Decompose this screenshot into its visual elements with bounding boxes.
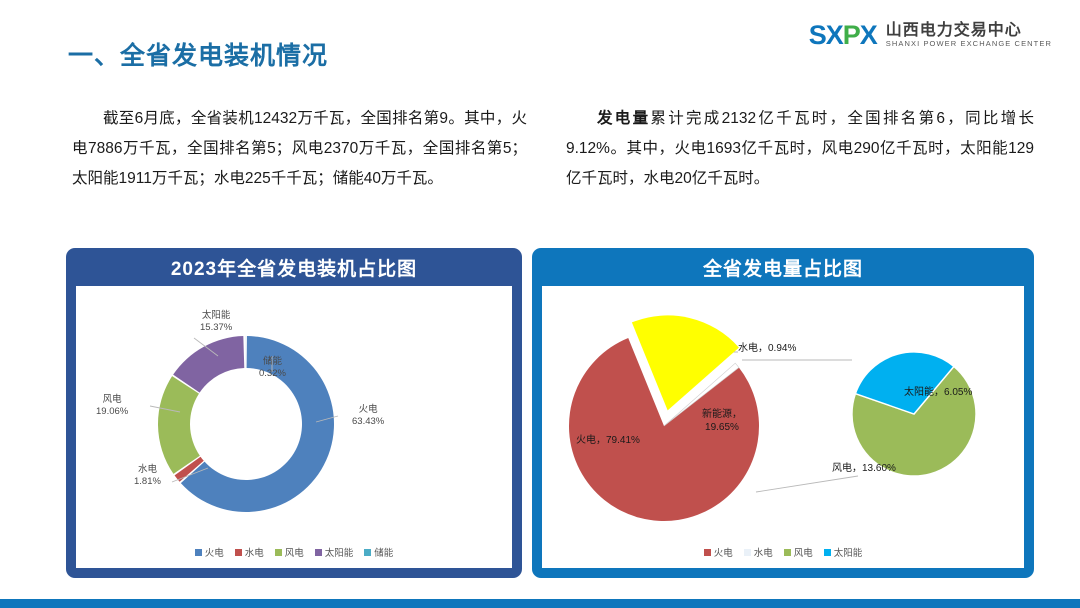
pie-label-hydro: 水电，0.94% bbox=[738, 342, 796, 355]
chart-label-thermal-name: 火电 bbox=[359, 404, 378, 415]
legend-item-火电[interactable]: 火电 bbox=[195, 545, 224, 559]
pie-label-solar: 太阳能，6.05% bbox=[904, 386, 972, 399]
panel-generation-body: 火电，79.41% 新能源， 19.65% 水电，0.94% 风电，13.60%… bbox=[542, 286, 1024, 568]
legend-swatch-icon bbox=[315, 549, 322, 556]
legend-swatch-icon bbox=[195, 549, 202, 556]
legend-label: 水电 bbox=[245, 545, 264, 559]
legend-item-太阳能[interactable]: 太阳能 bbox=[824, 545, 863, 559]
page-title: 一、全省发电装机情况 bbox=[68, 36, 328, 72]
chart-label-wind-name: 风电 bbox=[103, 394, 122, 405]
logo-mark: SXPX bbox=[809, 22, 877, 49]
logo-english-name: SHANXI POWER EXCHANGE CENTER bbox=[886, 40, 1052, 48]
legend-swatch-icon bbox=[824, 549, 831, 556]
panel-capacity-body: 太阳能 15.37% 储能 0.32% 风电 19.06% 水电 1.81% 火… bbox=[76, 286, 512, 568]
pie-chart-generation bbox=[542, 286, 1024, 568]
chart-label-storage-name: 储能 bbox=[263, 356, 282, 367]
legend-label: 火电 bbox=[714, 545, 733, 559]
paragraph-generation: 发电量累计完成2132亿千瓦时，全国排名第6，同比增长9.12%。其中，火电16… bbox=[566, 104, 1034, 195]
legend-label: 储能 bbox=[374, 545, 393, 559]
panel-capacity-title: 2023年全省发电装机占比图 bbox=[66, 248, 522, 286]
panel-capacity-chart: 2023年全省发电装机占比图 太阳能 15.37% 储能 0.32% 风电 19… bbox=[66, 248, 522, 578]
legend-item-水电[interactable]: 水电 bbox=[744, 545, 773, 559]
chart-label-hydro-name: 水电 bbox=[138, 464, 157, 475]
connector-line bbox=[756, 476, 858, 492]
logo-chinese-name: 山西电力交易中心 bbox=[886, 23, 1052, 40]
donut-chart-capacity bbox=[76, 286, 512, 568]
legend-label: 火电 bbox=[205, 545, 224, 559]
bottom-accent-bar bbox=[0, 599, 1080, 608]
chart-label-thermal: 火电 63.43% bbox=[352, 404, 384, 428]
logo-mark-left: SX bbox=[809, 20, 843, 50]
legend-item-风电[interactable]: 风电 bbox=[275, 545, 304, 559]
legend-label: 太阳能 bbox=[834, 545, 863, 559]
legend-swatch-icon bbox=[784, 549, 791, 556]
logo: SXPX 山西电力交易中心 SHANXI POWER EXCHANGE CENT… bbox=[809, 22, 1052, 49]
panel-generation-chart: 全省发电量占比图 火电，79.41% 新能源， 19.65% 水电，0.94% … bbox=[532, 248, 1034, 578]
legend-generation: 火电水电风电太阳能 bbox=[542, 545, 1024, 559]
legend-label: 水电 bbox=[754, 545, 773, 559]
panel-generation-title: 全省发电量占比图 bbox=[532, 248, 1034, 286]
legend-label: 风电 bbox=[285, 545, 304, 559]
legend-item-太阳能[interactable]: 太阳能 bbox=[315, 545, 354, 559]
chart-label-storage-value: 0.32% bbox=[259, 368, 286, 380]
pie-chart-svg bbox=[542, 286, 1024, 568]
paragraph-generation-keyword: 发电量 bbox=[597, 110, 650, 127]
legend-item-储能[interactable]: 储能 bbox=[364, 545, 393, 559]
legend-label: 太阳能 bbox=[325, 545, 354, 559]
pie-label-wind: 风电，13.60% bbox=[832, 462, 896, 475]
legend-item-水电[interactable]: 水电 bbox=[235, 545, 264, 559]
pie-label-newenergy-name: 新能源， bbox=[702, 409, 742, 420]
legend-swatch-icon bbox=[744, 549, 751, 556]
legend-swatch-icon bbox=[364, 549, 371, 556]
legend-item-火电[interactable]: 火电 bbox=[704, 545, 733, 559]
paragraph-capacity: 截至6月底，全省装机12432万千瓦，全国排名第9。其中，火电7886万千瓦，全… bbox=[72, 104, 527, 195]
legend-capacity: 火电水电风电太阳能储能 bbox=[76, 545, 512, 559]
pie-label-thermal: 火电，79.41% bbox=[576, 434, 640, 447]
legend-item-风电[interactable]: 风电 bbox=[784, 545, 813, 559]
logo-mark-right: X bbox=[860, 20, 877, 50]
chart-label-thermal-value: 63.43% bbox=[352, 416, 384, 428]
pie-label-newenergy: 新能源， 19.65% bbox=[702, 408, 742, 434]
donut-slice-风电 bbox=[158, 376, 200, 474]
legend-swatch-icon bbox=[704, 549, 711, 556]
logo-text: 山西电力交易中心 SHANXI POWER EXCHANGE CENTER bbox=[886, 23, 1052, 48]
pie-label-newenergy-value: 19.65% bbox=[705, 422, 739, 433]
chart-label-hydro-value: 1.81% bbox=[134, 476, 161, 488]
chart-label-solar-name: 太阳能 bbox=[202, 310, 231, 321]
chart-label-solar-value: 15.37% bbox=[200, 322, 232, 334]
donut-chart-svg bbox=[76, 286, 512, 568]
chart-label-solar: 太阳能 15.37% bbox=[200, 310, 232, 334]
chart-label-hydro: 水电 1.81% bbox=[134, 464, 161, 488]
chart-label-storage: 储能 0.32% bbox=[259, 356, 286, 380]
logo-leaf-icon: P bbox=[843, 20, 860, 50]
chart-label-wind: 风电 19.06% bbox=[96, 394, 128, 418]
legend-swatch-icon bbox=[275, 549, 282, 556]
chart-label-wind-value: 19.06% bbox=[96, 406, 128, 418]
legend-swatch-icon bbox=[235, 549, 242, 556]
legend-label: 风电 bbox=[794, 545, 813, 559]
